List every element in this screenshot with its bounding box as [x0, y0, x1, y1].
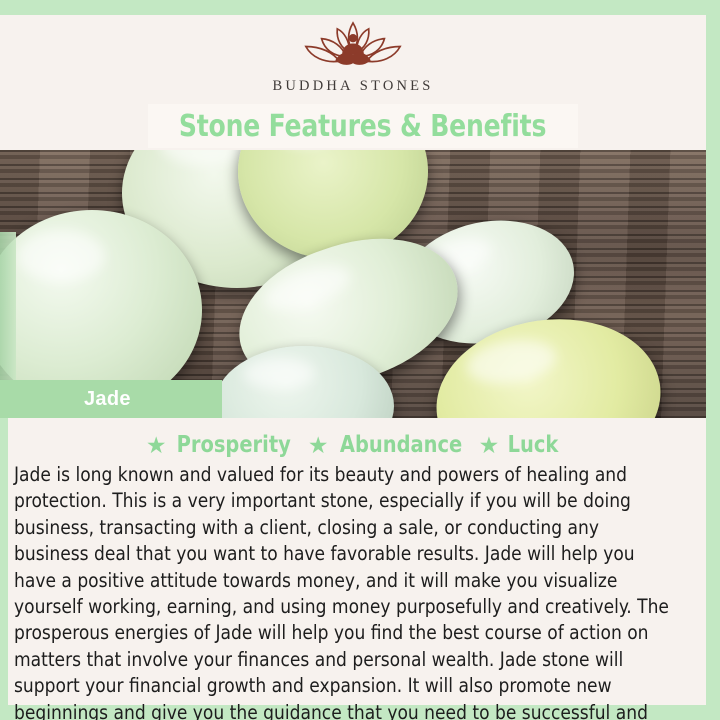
stone-info-card: BUDDHA STONES Stone Features & Benefits …	[0, 0, 720, 720]
stone-description: Jade is long known and valued for its be…	[14, 462, 679, 720]
stone-photo	[0, 150, 706, 418]
benefit-item: ★ Prosperity	[146, 432, 295, 458]
page-title: Stone Features & Benefits	[179, 109, 546, 144]
benefit-item: ★ Luck	[479, 432, 561, 458]
benefit-label: Luck	[508, 432, 559, 458]
lotus-meditation-icon	[298, 18, 408, 76]
benefit-label: Prosperity	[177, 432, 291, 458]
star-icon: ★	[308, 434, 329, 457]
stone-name-band: Jade	[0, 380, 222, 418]
stone-name-label: Jade	[84, 388, 131, 411]
benefit-item: ★ Abundance	[308, 432, 466, 458]
star-icon: ★	[479, 434, 500, 457]
brand-name: BUDDHA STONES	[273, 78, 434, 95]
benefit-label: Abundance	[339, 432, 461, 458]
benefits-row: ★ Prosperity ★ Abundance ★ Luck	[0, 428, 706, 462]
star-icon: ★	[146, 434, 167, 457]
title-banner: Stone Features & Benefits	[148, 104, 578, 148]
brand-logo: BUDDHA STONES	[0, 18, 706, 106]
